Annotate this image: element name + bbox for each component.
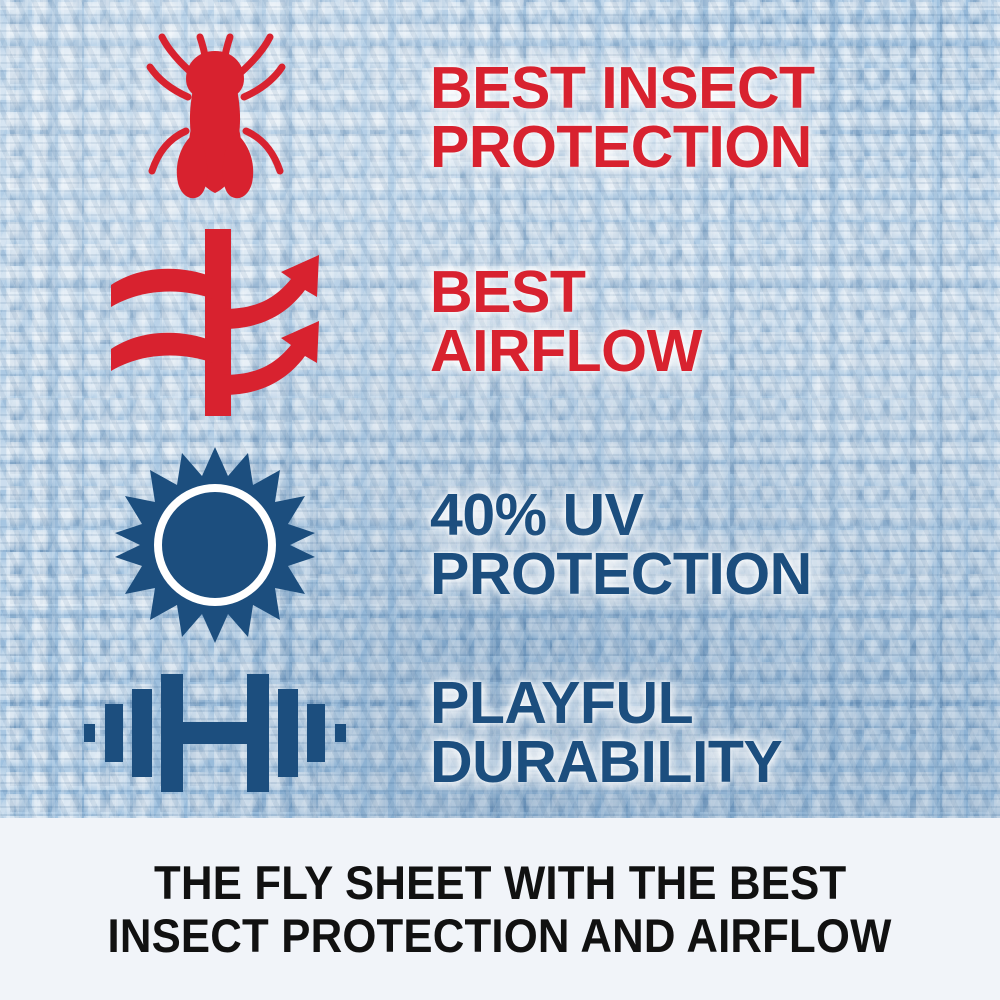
airflow-arrows-icon (95, 225, 335, 420)
feature-headline-line2: AIRFLOW (430, 322, 1000, 381)
feature-headline-line1: BEST (430, 263, 1000, 322)
caption-line-1: THE FLY SHEET WITH THE BEST (154, 856, 846, 909)
feature-row-insect-protection: BEST INSECT PROTECTION (0, 18, 1000, 218)
feature-row-durability: PLAYFUL DURABILITY (0, 650, 1000, 815)
feature-headline-line2: DURABILITY (430, 733, 1000, 792)
sun-burst-icon (115, 445, 315, 645)
feature-text-insect-protection: BEST INSECT PROTECTION (430, 59, 1000, 177)
product-feature-infographic: BEST INSECT PROTECTION (0, 0, 1000, 1000)
dumbbell-icon-cell (0, 658, 430, 808)
feature-row-airflow: BEST AIRFLOW (0, 222, 1000, 422)
fly-icon-cell (0, 23, 430, 213)
feature-headline-line2: PROTECTION (430, 545, 1000, 604)
feature-text-airflow: BEST AIRFLOW (430, 263, 1000, 381)
feature-headline-line2: PROTECTION (430, 118, 1000, 177)
feature-text-durability: PLAYFUL DURABILITY (430, 674, 1000, 792)
feature-row-uv-protection: 40% UV PROTECTION (0, 440, 1000, 650)
feature-headline-line1: 40% UV (430, 486, 1000, 545)
caption-line-2: INSECT PROTECTION AND AIRFLOW (108, 909, 892, 962)
feature-text-uv-protection: 40% UV PROTECTION (430, 486, 1000, 604)
sun-icon-cell (0, 445, 430, 645)
fly-icon (120, 23, 310, 213)
feature-headline-line1: BEST INSECT (430, 59, 1000, 118)
caption-band: THE FLY SHEET WITH THE BEST INSECT PROTE… (0, 818, 1000, 1000)
airflow-icon-cell (0, 225, 430, 420)
dumbbell-icon (80, 658, 350, 808)
feature-headline-line1: PLAYFUL (430, 674, 1000, 733)
